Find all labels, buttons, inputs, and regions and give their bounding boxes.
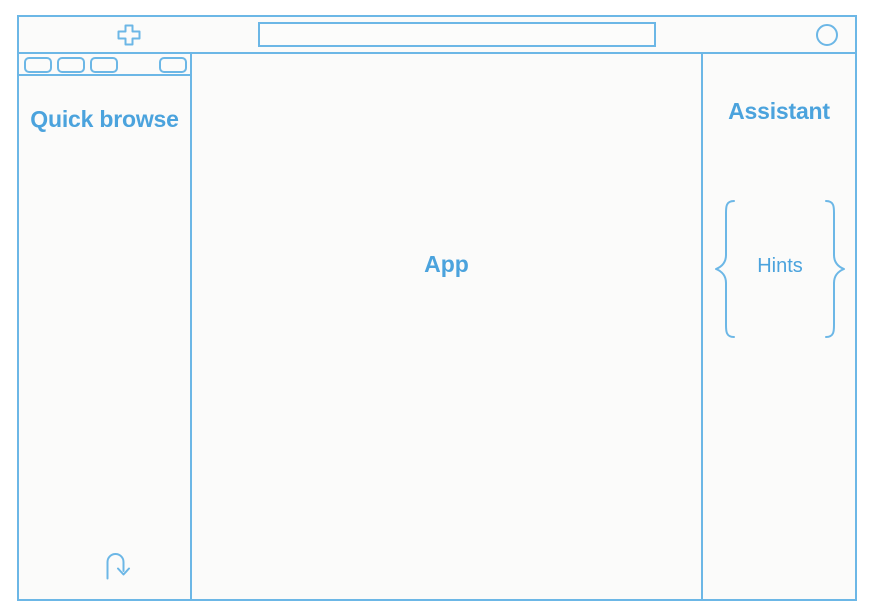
quick-browse-panel: Quick browse: [19, 54, 192, 599]
tab-strip: [19, 54, 190, 76]
tab-chip-4[interactable]: [159, 57, 187, 73]
plus-icon[interactable]: [115, 24, 143, 46]
quick-browse-title: Quick browse: [19, 105, 190, 135]
application-window: Quick browse App Assistant: [17, 15, 857, 601]
app-label: App: [192, 251, 701, 278]
hints-block: Hints: [711, 199, 849, 339]
u-turn-arrow-icon[interactable]: [100, 549, 134, 581]
avatar-circle-icon[interactable]: [816, 24, 838, 46]
tab-chip-2[interactable]: [57, 57, 85, 73]
tab-chip-1[interactable]: [24, 57, 52, 73]
app-panel: App: [192, 54, 703, 599]
right-brace-icon: [821, 199, 847, 339]
search-input[interactable]: [258, 22, 656, 47]
assistant-title: Assistant: [703, 98, 855, 125]
assistant-panel: Assistant Hints: [703, 54, 855, 599]
tab-chip-3[interactable]: [90, 57, 118, 73]
body-row: Quick browse App Assistant: [19, 54, 855, 599]
header-bar: [19, 17, 855, 54]
quick-browse-body: Quick browse: [19, 76, 190, 599]
